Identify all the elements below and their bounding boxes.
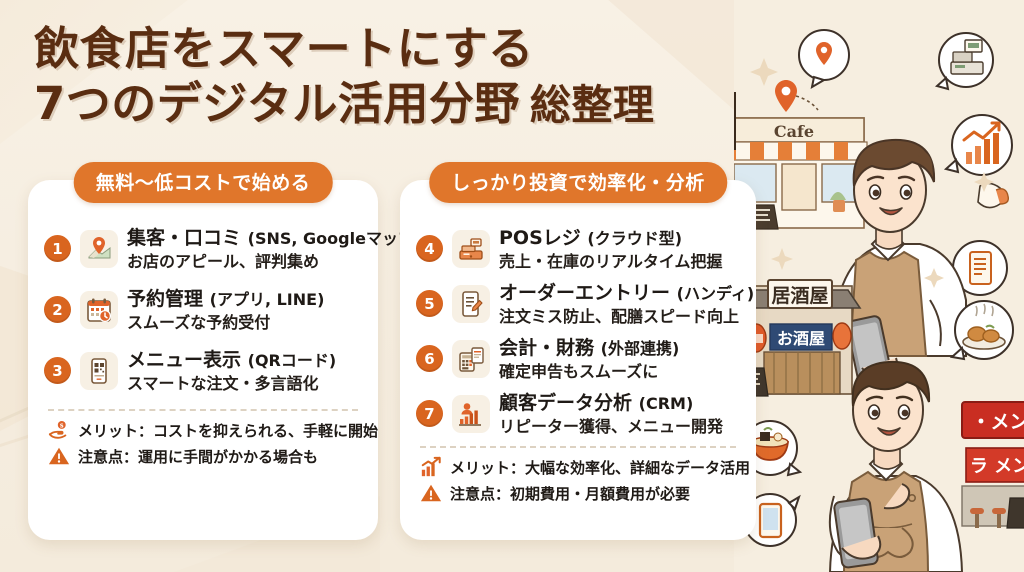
item-title: オーダーエントリー (ハンディ) (499, 282, 754, 305)
item-number-badge: 1 (44, 235, 71, 262)
list-item[interactable]: 6 (416, 336, 740, 382)
svg-text:お酒屋: お酒屋 (777, 329, 825, 348)
item-title: 集客・口コミ (SNS, Googleマップ) (127, 227, 421, 250)
item-title-main: 顧客データ分析 (499, 392, 632, 414)
item-title-sub: (QRコード) (248, 351, 337, 370)
page-title: 飲食店をスマートにする 7つのデジタル活用分野総整理 (34, 22, 774, 133)
item-number-badge: 2 (44, 296, 71, 323)
list-item[interactable]: 5 オーダーエントリー (ハンディ) 注文ミス防止、配膳スピード向上 (416, 281, 740, 327)
card-divider (48, 409, 358, 411)
card-divider (420, 446, 736, 448)
merit-note-text: メリット：大幅な効率化、詳細なデータ活用 (450, 457, 750, 478)
item-title: 予約管理 (アプリ, LINE) (127, 288, 324, 311)
item-number-badge: 4 (416, 235, 443, 262)
item-text: 集客・口コミ (SNS, Googleマップ) お店のアピール、評判集め (127, 226, 421, 272)
headline-line-2: 7つのデジタル活用分野総整理 (34, 76, 774, 133)
card-investment-pill: しっかり投資で効率化・分析 (429, 162, 727, 203)
svg-text:・メン: ・メン (971, 411, 1024, 433)
illustration-panel: Cafe (734, 0, 1024, 572)
svg-text:S: S (60, 423, 64, 429)
item-title-main: POSレジ (499, 227, 581, 249)
merit-note: メリット：大幅な効率化、詳細なデータ活用 (420, 456, 740, 478)
item-title-sub: (ハンディ) (677, 284, 755, 303)
list-item[interactable]: 2 (44, 287, 362, 333)
merit-note: S メリット：コストを抑えられる、手軽に開始 (48, 419, 362, 441)
warning-triangle-icon (420, 482, 442, 504)
item-text: オーダーエントリー (ハンディ) 注文ミス防止、配膳スピード向上 (499, 281, 754, 327)
item-title-sub: (外部連携) (601, 339, 680, 358)
item-desc: スマートな注文・多言語化 (127, 373, 336, 394)
cash-register-icon (452, 230, 490, 268)
item-title-main: 予約管理 (127, 288, 203, 310)
growth-chart-icon (420, 456, 442, 478)
svg-text:Cafe: Cafe (774, 122, 814, 141)
caution-note: 注意点：運用に手間がかかる場合も (48, 445, 362, 467)
headline-line-2-main: 7つのデジタル活用分野 (34, 77, 520, 130)
item-title: メニュー表示 (QRコード) (127, 349, 336, 372)
caution-note-text: 注意点：初期費用・月額費用が必要 (450, 483, 690, 504)
ramen-shop-sign: ・メン ラ メン (962, 402, 1024, 528)
item-title-main: メニュー表示 (127, 349, 241, 371)
hand-coin-icon: S (48, 419, 70, 441)
qr-phone-icon (80, 352, 118, 390)
bubble-cash-register (937, 33, 993, 89)
card-investment: しっかり投資で効率化・分析 4 (400, 180, 756, 540)
card-investment-items: 4 POSレジ (クラウド型) 売上・在庫のリアルタイ (416, 226, 740, 437)
caution-note: 注意点：初期費用・月額費用が必要 (420, 482, 740, 504)
headline-line-1: 飲食店をスマートにする (34, 22, 774, 76)
caution-note-text: 注意点：運用に手間がかかる場合も (78, 446, 318, 467)
item-title: 顧客データ分析 (CRM) (499, 392, 723, 415)
item-desc: スムーズな予約受付 (127, 312, 324, 333)
item-title-main: オーダーエントリー (499, 282, 670, 304)
card-low-cost: 無料〜低コストで始める 1 集客・口コミ (SNS, Googleマップ) (28, 180, 378, 540)
svg-text:居酒屋: 居酒屋 (771, 285, 828, 307)
headline-line-2-tail: 総整理 (530, 81, 655, 129)
merit-note-text: メリット：コストを抑えられる、手軽に開始 (78, 420, 378, 441)
customer-chart-icon (452, 395, 490, 433)
item-title-main: 集客・口コミ (127, 227, 241, 249)
item-text: メニュー表示 (QRコード) スマートな注文・多言語化 (127, 348, 336, 394)
list-item[interactable]: 3 メニュー表示 (44, 348, 362, 394)
svg-text:ラ メン: ラ メン (970, 456, 1024, 477)
calendar-clock-icon (80, 291, 118, 329)
item-number-badge: 3 (44, 357, 71, 384)
list-item[interactable]: 7 顧客データ分析 (CRM) (416, 391, 740, 437)
map-pin-icon (80, 230, 118, 268)
item-desc: リピーター獲得、メニュー開発 (499, 416, 723, 437)
item-desc: お店のアピール、評判集め (127, 251, 421, 272)
item-title: POSレジ (クラウド型) (499, 227, 723, 250)
item-desc: 注文ミス防止、配膳スピード向上 (499, 306, 754, 327)
item-title-sub: (CRM) (639, 394, 694, 413)
item-title-main: 会計・財務 (499, 337, 594, 359)
item-title-sub: (SNS, Googleマップ) (248, 229, 422, 248)
card-low-cost-pill: 無料〜低コストで始める (74, 162, 333, 203)
item-desc: 確定申告もスムーズに (499, 361, 679, 382)
list-item[interactable]: 4 POSレジ (クラウド型) 売上・在庫のリアルタイ (416, 226, 740, 272)
card-columns: 無料〜低コストで始める 1 集客・口コミ (SNS, Googleマップ) (28, 180, 756, 540)
card-low-cost-items: 1 集客・口コミ (SNS, Googleマップ) お店のアピール、評判集め (44, 226, 362, 394)
calculator-icon (452, 340, 490, 378)
item-text: 顧客データ分析 (CRM) リピーター獲得、メニュー開発 (499, 391, 723, 437)
item-title-sub: (アプリ, LINE) (210, 290, 325, 309)
item-text: POSレジ (クラウド型) 売上・在庫のリアルタイム把握 (499, 226, 723, 272)
item-title: 会計・財務 (外部連携) (499, 337, 679, 360)
item-number-badge: 7 (416, 400, 443, 427)
item-text: 予約管理 (アプリ, LINE) スムーズな予約受付 (127, 287, 324, 333)
item-title-sub: (クラウド型) (587, 229, 682, 248)
item-text: 会計・財務 (外部連携) 確定申告もスムーズに (499, 336, 679, 382)
item-number-badge: 6 (416, 345, 443, 372)
item-desc: 売上・在庫のリアルタイム把握 (499, 251, 723, 272)
warning-triangle-icon (48, 445, 70, 467)
list-item[interactable]: 1 集客・口コミ (SNS, Googleマップ) お店のアピール、評判集め (44, 226, 362, 272)
item-number-badge: 5 (416, 290, 443, 317)
infographic-canvas: 飲食店をスマートにする 7つのデジタル活用分野総整理 無料〜低コストで始める 1 (0, 0, 1024, 572)
order-entry-icon (452, 285, 490, 323)
